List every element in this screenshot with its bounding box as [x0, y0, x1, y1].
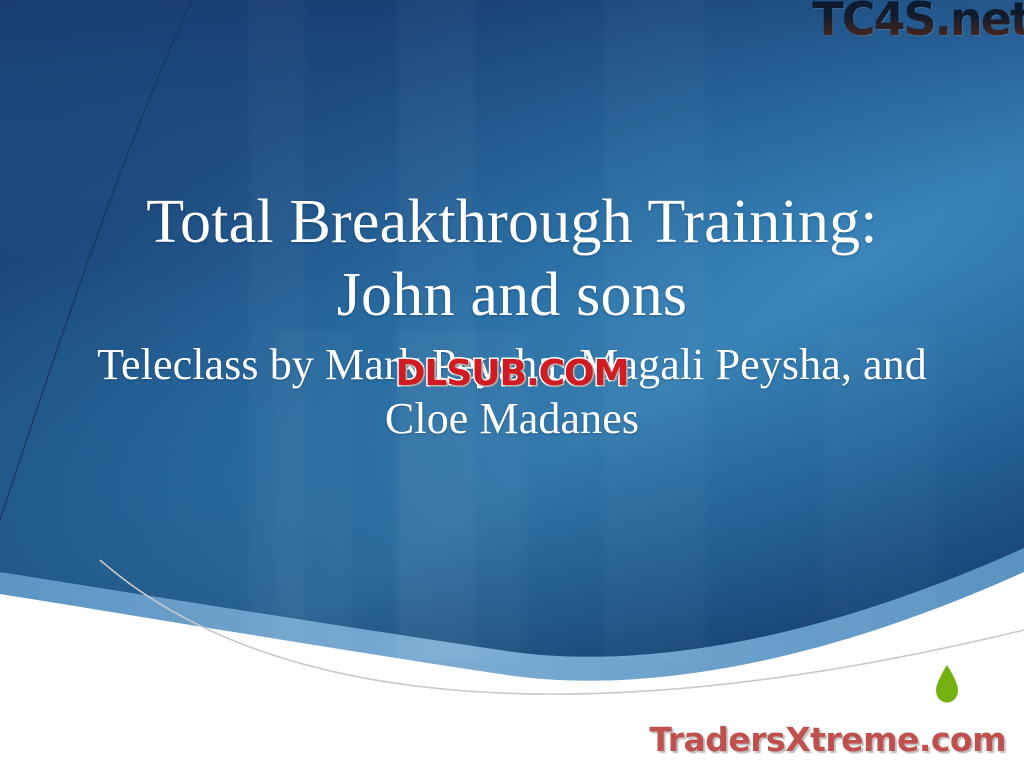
slide-text-block: Total Breakthrough Training: John and so…: [0, 186, 1024, 446]
slide-title-line-1: Total Breakthrough Training:: [146, 188, 877, 256]
tc4s-watermark: TC4S.net: [812, 0, 1024, 42]
tradersxtreme-logo: TradersXtreme.com: [684, 664, 1014, 764]
green-droplet-icon: [932, 664, 962, 704]
slide-title-line-2: John and sons: [337, 261, 688, 329]
slide-subtitle-line-2: Cloe Madanes: [385, 394, 639, 443]
dlsub-watermark: DLSUB.COM: [396, 356, 629, 392]
presentation-slide: TC4S.net Total Breakthrough Training: Jo…: [0, 0, 1024, 768]
tradersxtreme-logo-text: TradersXtreme.com: [649, 723, 1006, 756]
slide-title: Total Breakthrough Training: John and so…: [0, 186, 1024, 332]
